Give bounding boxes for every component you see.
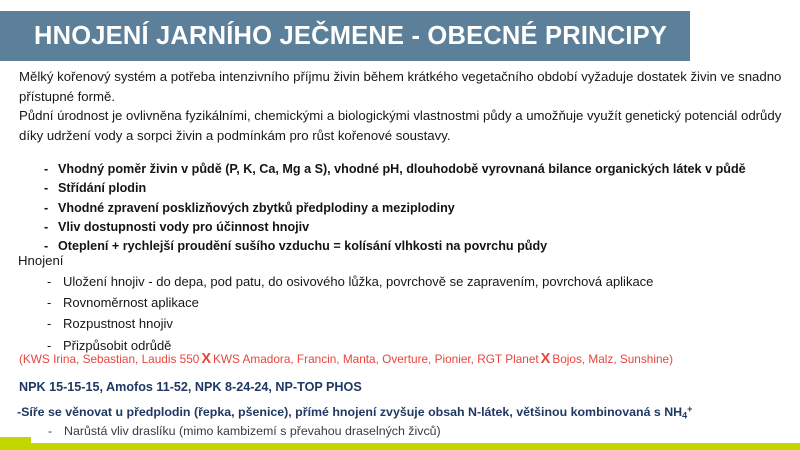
list-item: - Rovnoměrnost aplikace: [47, 292, 797, 313]
intro-paragraph: Půdní úrodnost je ovlivněna fyzikálními,…: [19, 106, 791, 145]
varieties-note: (KWS Irina, Sebastian, Laudis 550XKWS Am…: [19, 351, 673, 367]
sulphur-note-superscript: +: [687, 404, 692, 414]
slide-canvas: HNOJENÍ JARNÍHO JEČMENE - OBECNÉ PRINCIP…: [0, 0, 800, 450]
fertilizing-list: - Uložení hnojiv - do depa, pod patu, do…: [47, 271, 797, 356]
list-item: - Vhodné zpravení posklizňových zbytků p…: [44, 199, 794, 218]
list-item-label: Uložení hnojiv - do depa, pod patu, do o…: [63, 271, 653, 292]
bullet-dash-icon: -: [47, 313, 63, 334]
bullet-dash-icon: -: [44, 179, 58, 198]
list-item-label: Vhodný poměr živin v půdě (P, K, Ca, Mg …: [58, 160, 746, 179]
potassium-note-label: Narůstá vliv draslíku (mimo kambizemí s …: [64, 423, 441, 440]
varieties-separator-icon: X: [539, 351, 553, 367]
list-item-label: Vliv dostupnosti vody pro účinnost hnoji…: [58, 218, 309, 237]
varieties-group-2: KWS Amadora, Francin, Manta, Overture, P…: [213, 352, 539, 366]
bullet-dash-icon: -: [48, 423, 64, 440]
list-item-label: Oteplení + rychlejší proudění sušího vzd…: [58, 237, 547, 256]
principles-list: - Vhodný poměr živin v půdě (P, K, Ca, M…: [44, 160, 794, 256]
list-item: - Vhodný poměr živin v půdě (P, K, Ca, M…: [44, 160, 794, 179]
intro-paragraphs: Mělký kořenový systém a potřeba intenziv…: [19, 67, 791, 145]
sulphur-note-text: -Síře se věnovat u předplodin (řepka, pš…: [17, 405, 682, 419]
list-item-label: Rozpustnost hnojiv: [63, 313, 173, 334]
list-item: - Uložení hnojiv - do depa, pod patu, do…: [47, 271, 797, 292]
intro-paragraph: Mělký kořenový systém a potřeba intenziv…: [19, 67, 791, 106]
bullet-dash-icon: -: [44, 218, 58, 237]
list-item: - Rozpustnost hnojiv: [47, 313, 797, 334]
bullet-dash-icon: -: [44, 160, 58, 179]
fertilizing-heading: Hnojení: [18, 252, 63, 269]
title-banner: HNOJENÍ JARNÍHO JEČMENE - OBECNÉ PRINCIP…: [0, 11, 690, 61]
varieties-separator-icon: X: [199, 351, 213, 367]
list-item-label: Rovnoměrnost aplikace: [63, 292, 199, 313]
list-item: - Oteplení + rychlejší proudění sušího v…: [44, 237, 794, 256]
fertilizer-products-note: NPK 15-15-15, Amofos 11-52, NPK 8-24-24,…: [19, 379, 362, 396]
list-item-label: Střídání plodin: [58, 179, 146, 198]
bullet-dash-icon: -: [47, 271, 63, 292]
varieties-group-1: (KWS Irina, Sebastian, Laudis 550: [19, 352, 199, 366]
sulphur-note: -Síře se věnovat u předplodin (řepka, pš…: [17, 401, 692, 424]
bullet-dash-icon: -: [47, 292, 63, 313]
varieties-group-3: Bojos, Malz, Sunshine): [552, 352, 673, 366]
list-item: - Střídání plodin: [44, 179, 794, 198]
footer-accent-block: [0, 437, 31, 450]
footer-accent-strip: [0, 443, 800, 450]
page-title: HNOJENÍ JARNÍHO JEČMENE - OBECNÉ PRINCIP…: [0, 22, 667, 51]
list-item: - Vliv dostupnosti vody pro účinnost hno…: [44, 218, 794, 237]
list-item-label: Vhodné zpravení posklizňových zbytků pře…: [58, 199, 455, 218]
potassium-note: - Narůstá vliv draslíku (mimo kambizemí …: [48, 423, 441, 440]
bullet-dash-icon: -: [44, 199, 58, 218]
